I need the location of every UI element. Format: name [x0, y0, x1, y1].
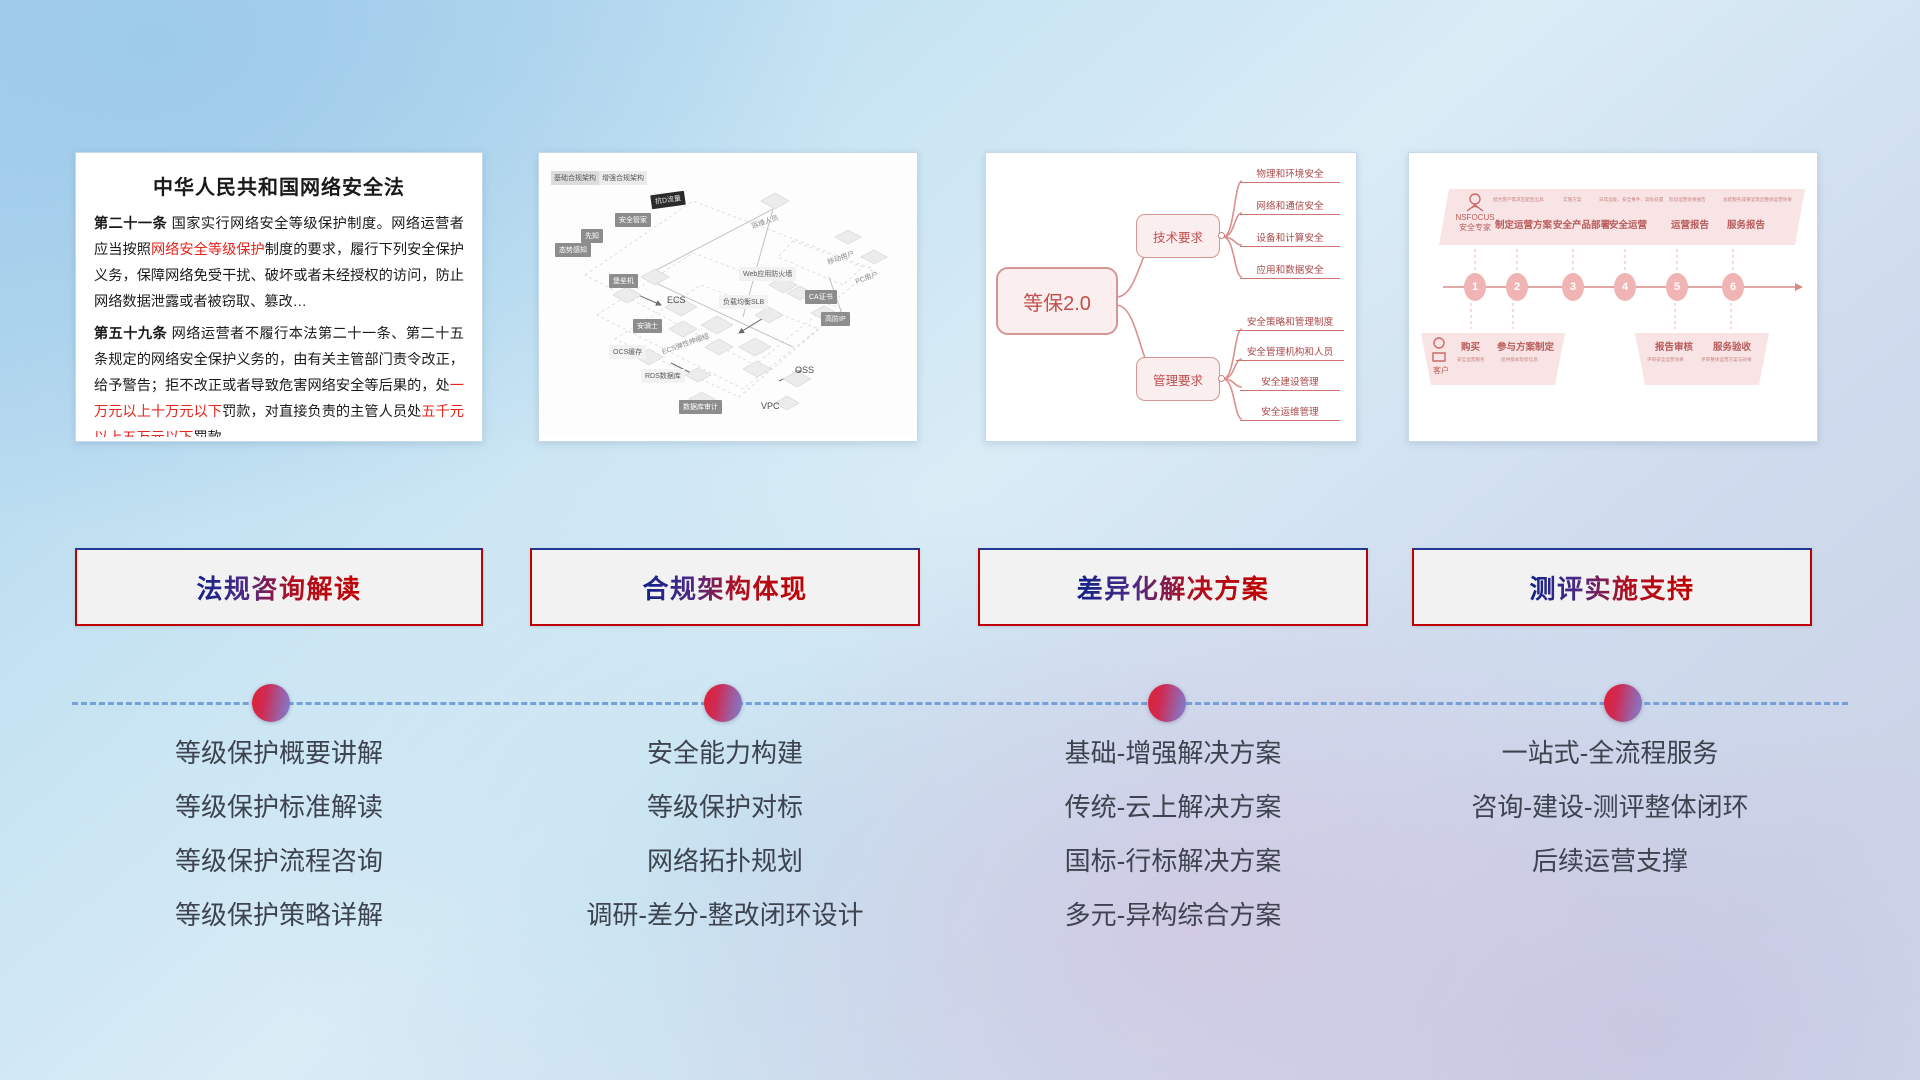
timeline-bottom-sub-4: 评审整体运营方案与效果 [1701, 357, 1752, 363]
arch-node-db-audit: 数据库审计 [679, 400, 722, 414]
banner-label-1: 法规咨询解读 [196, 569, 361, 606]
list-item: 网络拓扑规划 [510, 848, 940, 874]
mindmap-leaf-tech-3: 设备和计算安全 [1240, 230, 1340, 247]
timeline-bottom-sub-1: 安全运营服务 [1457, 357, 1485, 363]
list-item: 调研-差分-整改闭环设计 [510, 902, 940, 928]
timeline-node-4[interactable] [1604, 684, 1642, 722]
mindmap-collapse-dot-management[interactable] [1218, 375, 1225, 382]
list-item: 咨询-建设-测评整体闭环 [1390, 794, 1830, 820]
arch-node-slb: 负载均衡SLB [719, 295, 768, 309]
arch-node-bastion: 堡垒机 [609, 274, 638, 288]
arch-node-rds: RDS数据库 [641, 369, 685, 383]
arch-node-waf: Web应用防火墙 [739, 267, 796, 281]
timeline-top-title-5: 服务报告 [1727, 217, 1765, 231]
preview-card-architecture[interactable]: 基础合规架构 增强合规架构 抗D流量 安全管家 先知 态势感知 堡垒机 ECS … [538, 152, 918, 442]
timeline-bottom-title-3: 报告审核 [1655, 339, 1693, 353]
arch-node-oss: OSS [791, 363, 818, 377]
mindmap-leaf-tech-4: 应用和数据安全 [1240, 262, 1340, 279]
timeline-top-title-4: 运营报告 [1671, 217, 1709, 231]
mindmap-leaf-mgmt-2: 安全管理机构和人员 [1236, 344, 1344, 361]
banner-compliance-architecture[interactable]: 合规架构体现 [530, 548, 920, 626]
law-title: 中华人民共和国网络安全法 [80, 157, 478, 200]
timeline-step-number-3: 3 [1562, 273, 1584, 301]
law-document: 中华人民共和国网络安全法 第二十一条 国家实行网络安全等级保护制度。网络运营者应… [80, 157, 478, 437]
timeline-step-number-1: 1 [1464, 273, 1486, 301]
timeline-top-sub-1: 结合客户需求匹配后出具 [1493, 197, 1544, 203]
mindmap-leaf-tech-2: 网络和通信安全 [1240, 198, 1340, 215]
list-item: 国标-行标解决方案 [958, 848, 1388, 874]
law-article-21: 第二十一条 国家实行网络安全等级保护制度。网络运营者应当按照网络安全等级保护制度… [94, 212, 464, 315]
timeline-node-1[interactable] [252, 684, 290, 722]
banner-regulation-consulting[interactable]: 法规咨询解读 [75, 548, 483, 626]
timeline-top-sub-5: 总结服务成果呈现出整体运营效果 [1723, 197, 1792, 203]
list-item: 等级保护概要讲解 [75, 740, 483, 766]
list-item: 基础-增强解决方案 [958, 740, 1388, 766]
mindmap-leaf-mgmt-1: 安全策略和管理制度 [1236, 314, 1344, 331]
timeline-top-title-3: 安全运营 [1609, 217, 1647, 231]
list-item: 等级保护对标 [510, 794, 940, 820]
slide-canvas: 中华人民共和国网络安全法 第二十一条 国家实行网络安全等级保护制度。网络运营者应… [0, 0, 1920, 1080]
arch-tab-enhanced[interactable]: 增强合规架构 [599, 171, 647, 185]
list-item: 后续运营支撑 [1390, 848, 1830, 874]
list-item: 多元-异构综合方案 [958, 902, 1388, 928]
preview-card-service-timeline[interactable]: NSFOCUS 安全专家 客户 结合客户需求匹配后出具 制定运营方案 实施方案 … [1408, 152, 1818, 442]
timeline-top-title-2: 安全产品部署 [1553, 217, 1610, 231]
timeline-bottom-title-1: 购买 [1461, 339, 1480, 353]
law-article-59-text-c: 罚款。 [193, 430, 236, 437]
timeline-bottom-title-4: 服务验收 [1713, 339, 1751, 353]
service-list-architecture: 安全能力构建 等级保护对标 网络拓扑规划 调研-差分-整改闭环设计 [510, 740, 940, 956]
mindmap-leaf-tech-1: 物理和环境安全 [1240, 166, 1340, 183]
timeline-step-number-4: 4 [1614, 273, 1636, 301]
list-item: 安全能力构建 [510, 740, 940, 766]
arch-node-anqishi: 安骑士 [633, 319, 662, 333]
law-article-21-label: 第二十一条 [94, 216, 167, 232]
timeline-bottom-sub-3: 评审安全运营效果 [1647, 357, 1684, 363]
list-item: 等级保护流程咨询 [75, 848, 483, 874]
arch-node-situational-awareness: 态势感知 [555, 243, 591, 257]
timeline-top-sub-4: 阶段运营效果报告 [1669, 197, 1706, 203]
arch-node-anti-ddos-ip: 高防IP [821, 312, 850, 326]
list-item: 一站式-全流程服务 [1390, 740, 1830, 766]
mindmap-diagram: 等保2.0 技术要求 管理要求 物理和环境安全 网络和通信安全 设备和计算安全 … [990, 157, 1352, 437]
mindmap-leaf-mgmt-4: 安全运维管理 [1240, 404, 1340, 421]
mindmap-leaf-mgmt-3: 安全建设管理 [1240, 374, 1340, 391]
mindmap-root: 等保2.0 [996, 267, 1118, 335]
timeline-step-number-5: 5 [1666, 273, 1688, 301]
banner-differentiated-solution[interactable]: 差异化解决方案 [978, 548, 1368, 626]
preview-card-mindmap[interactable]: 等保2.0 技术要求 管理要求 物理和环境安全 网络和通信安全 设备和计算安全 … [985, 152, 1357, 442]
timeline-node-3[interactable] [1148, 684, 1186, 722]
timeline-bottom-sub-2: 提供基本现状信息 [1501, 357, 1538, 363]
banner-label-2: 合规架构体现 [642, 569, 807, 606]
law-article-59-label: 第五十九条 [94, 326, 167, 342]
timeline-step-number-2: 2 [1506, 273, 1528, 301]
list-item: 传统-云上解决方案 [958, 794, 1388, 820]
timeline-top-sub-3: 日常运处、安全事件、高危处置 [1599, 197, 1663, 203]
arch-tab-basic[interactable]: 基础合规架构 [551, 171, 599, 185]
arch-node-ecs: ECS [663, 293, 690, 307]
arch-node-vpc: VPC [757, 399, 784, 413]
banner-evaluation-support[interactable]: 测评实施支持 [1412, 548, 1812, 626]
law-article-21-highlight: 网络安全等级保护 [151, 242, 265, 258]
mindmap-branch-technical: 技术要求 [1136, 214, 1220, 258]
law-article-59-text-b: 罚款，对直接负责的主管人员处 [222, 404, 421, 420]
banner-label-4: 测评实施支持 [1529, 569, 1694, 606]
service-timeline-diagram: NSFOCUS 安全专家 客户 结合客户需求匹配后出具 制定运营方案 实施方案 … [1413, 157, 1813, 437]
timeline-top-sub-2: 实施方案 [1563, 197, 1581, 203]
arch-node-security-butler: 安全管家 [615, 213, 651, 227]
service-list-regulation: 等级保护概要讲解 等级保护标准解读 等级保护流程咨询 等级保护策略详解 [75, 740, 483, 956]
architecture-diagram: 基础合规架构 增强合规架构 抗D流量 安全管家 先知 态势感知 堡垒机 ECS … [543, 157, 913, 437]
list-item: 等级保护标准解读 [75, 794, 483, 820]
arch-node-xianzhi: 先知 [581, 229, 603, 243]
timeline-node-2[interactable] [704, 684, 742, 722]
timeline-dashed-line [72, 702, 1848, 705]
banner-label-3: 差异化解决方案 [1077, 569, 1270, 606]
arch-node-ocs-cache: OCS缓存 [609, 345, 646, 359]
mindmap-branch-management: 管理要求 [1136, 357, 1220, 401]
law-article-59: 第五十九条 网络运营者不履行本法第二十一条、第二十五条规定的网络安全保护义务的，… [94, 322, 464, 437]
arch-node-ca: CA证书 [805, 290, 837, 304]
timeline-role-customer: 客户 [1421, 365, 1461, 376]
service-list-solution: 基础-增强解决方案 传统-云上解决方案 国标-行标解决方案 多元-异构综合方案 [958, 740, 1388, 956]
service-list-evaluation: 一站式-全流程服务 咨询-建设-测评整体闭环 后续运营支撑 [1390, 740, 1830, 902]
preview-card-law[interactable]: 中华人民共和国网络安全法 第二十一条 国家实行网络安全等级保护制度。网络运营者应… [75, 152, 483, 442]
list-item: 等级保护策略详解 [75, 902, 483, 928]
timeline-step-number-6: 6 [1722, 273, 1744, 301]
mindmap-collapse-dot-technical[interactable] [1218, 232, 1225, 239]
timeline-top-title-1: 制定运营方案 [1495, 217, 1552, 231]
law-body: 第二十一条 国家实行网络安全等级保护制度。网络运营者应当按照网络安全等级保护制度… [80, 200, 478, 437]
timeline-bottom-title-2: 参与方案制定 [1497, 339, 1554, 353]
